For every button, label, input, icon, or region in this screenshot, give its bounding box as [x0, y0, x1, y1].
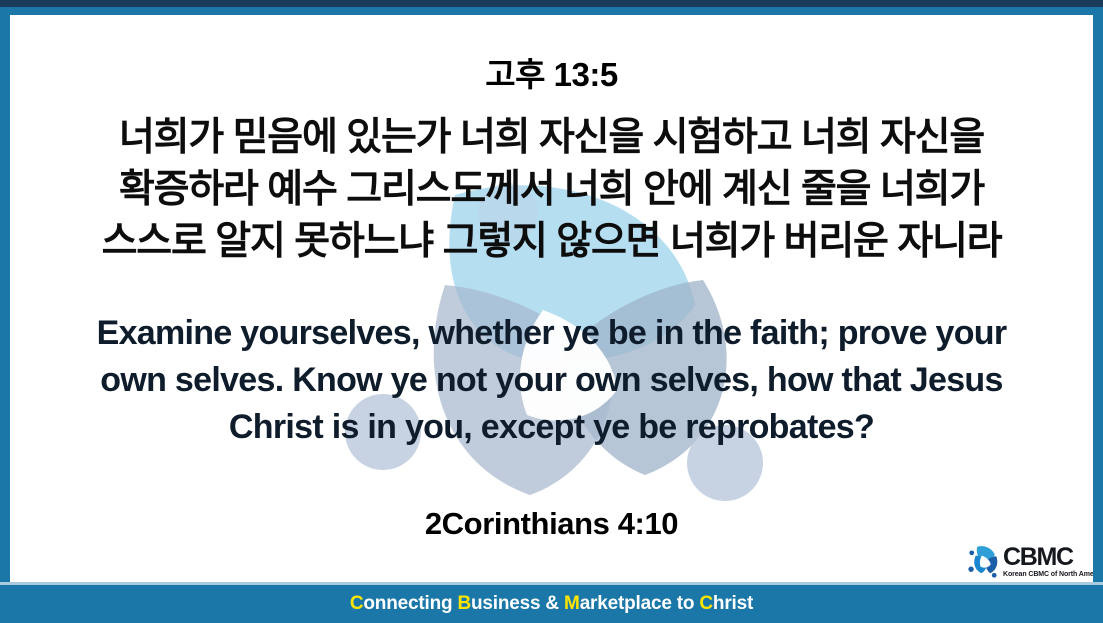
- footer-tagline-segment-6: C: [699, 593, 713, 614]
- korean-verse-text: 너희가 믿음에 있는가 너희 자신을 시험하고 너희 자신을 확증하라 예수 그…: [10, 112, 1093, 268]
- footer-tagline-segment-1: onnecting: [363, 593, 457, 614]
- footer-tagline-segment-3: usiness &: [471, 593, 564, 614]
- footer-tagline-segment-2: B: [457, 593, 471, 614]
- english-verse-text: Examine yourselves, whether ye be in the…: [10, 310, 1093, 451]
- english-verse-line-3: Christ is in you, except ye be reprobate…: [10, 404, 1093, 451]
- frame-border-top: [0, 7, 1103, 15]
- footer-tagline-segment-4: M: [564, 593, 580, 614]
- footer-tagline-segment-5: arketplace to: [580, 593, 700, 614]
- frame-border-right: [1093, 7, 1103, 602]
- slide-content: 고후 13:5 너희가 믿음에 있는가 너희 자신을 시험하고 너희 자신을 확…: [10, 15, 1093, 585]
- english-verse-line-2: own selves. Know ye not your own selves,…: [10, 357, 1093, 404]
- top-accent-strip: [0, 0, 1103, 7]
- footer-bar: Connecting Business & Marketplace to Chr…: [0, 585, 1103, 623]
- cbmc-wordmark: CBMC: [1003, 545, 1103, 570]
- korean-verse-line-2: 확증하라 예수 그리스도께서 너희 안에 계신 줄을 너희가: [10, 164, 1093, 216]
- korean-verse-line-1: 너희가 믿음에 있는가 너희 자신을 시험하고 너희 자신을: [10, 112, 1093, 164]
- cbmc-play-mark-icon: [967, 544, 1001, 578]
- cbmc-logo: CBMC Korean CBMC of North America: [967, 541, 1085, 581]
- cbmc-logo-text: CBMC Korean CBMC of North America: [1003, 545, 1103, 578]
- verse-reference: 2Corinthians 4:10: [10, 506, 1093, 542]
- footer-tagline-segment-0: C: [350, 593, 364, 614]
- korean-verse-line-3: 스스로 알지 못하느냐 그렇지 않으면 너희가 버리운 자니라: [10, 216, 1093, 268]
- verse-title-korean: 고후 13:5: [10, 48, 1093, 96]
- footer-tagline: Connecting Business & Marketplace to Chr…: [350, 593, 753, 615]
- cbmc-subtitle: Korean CBMC of North America: [1003, 571, 1103, 578]
- english-verse-line-1: Examine yourselves, whether ye be in the…: [10, 310, 1093, 357]
- frame-border-left: [0, 7, 10, 602]
- footer-tagline-segment-7: hrist: [713, 593, 753, 614]
- slide: 고후 13:5 너희가 믿음에 있는가 너희 자신을 시험하고 너희 자신을 확…: [0, 0, 1103, 623]
